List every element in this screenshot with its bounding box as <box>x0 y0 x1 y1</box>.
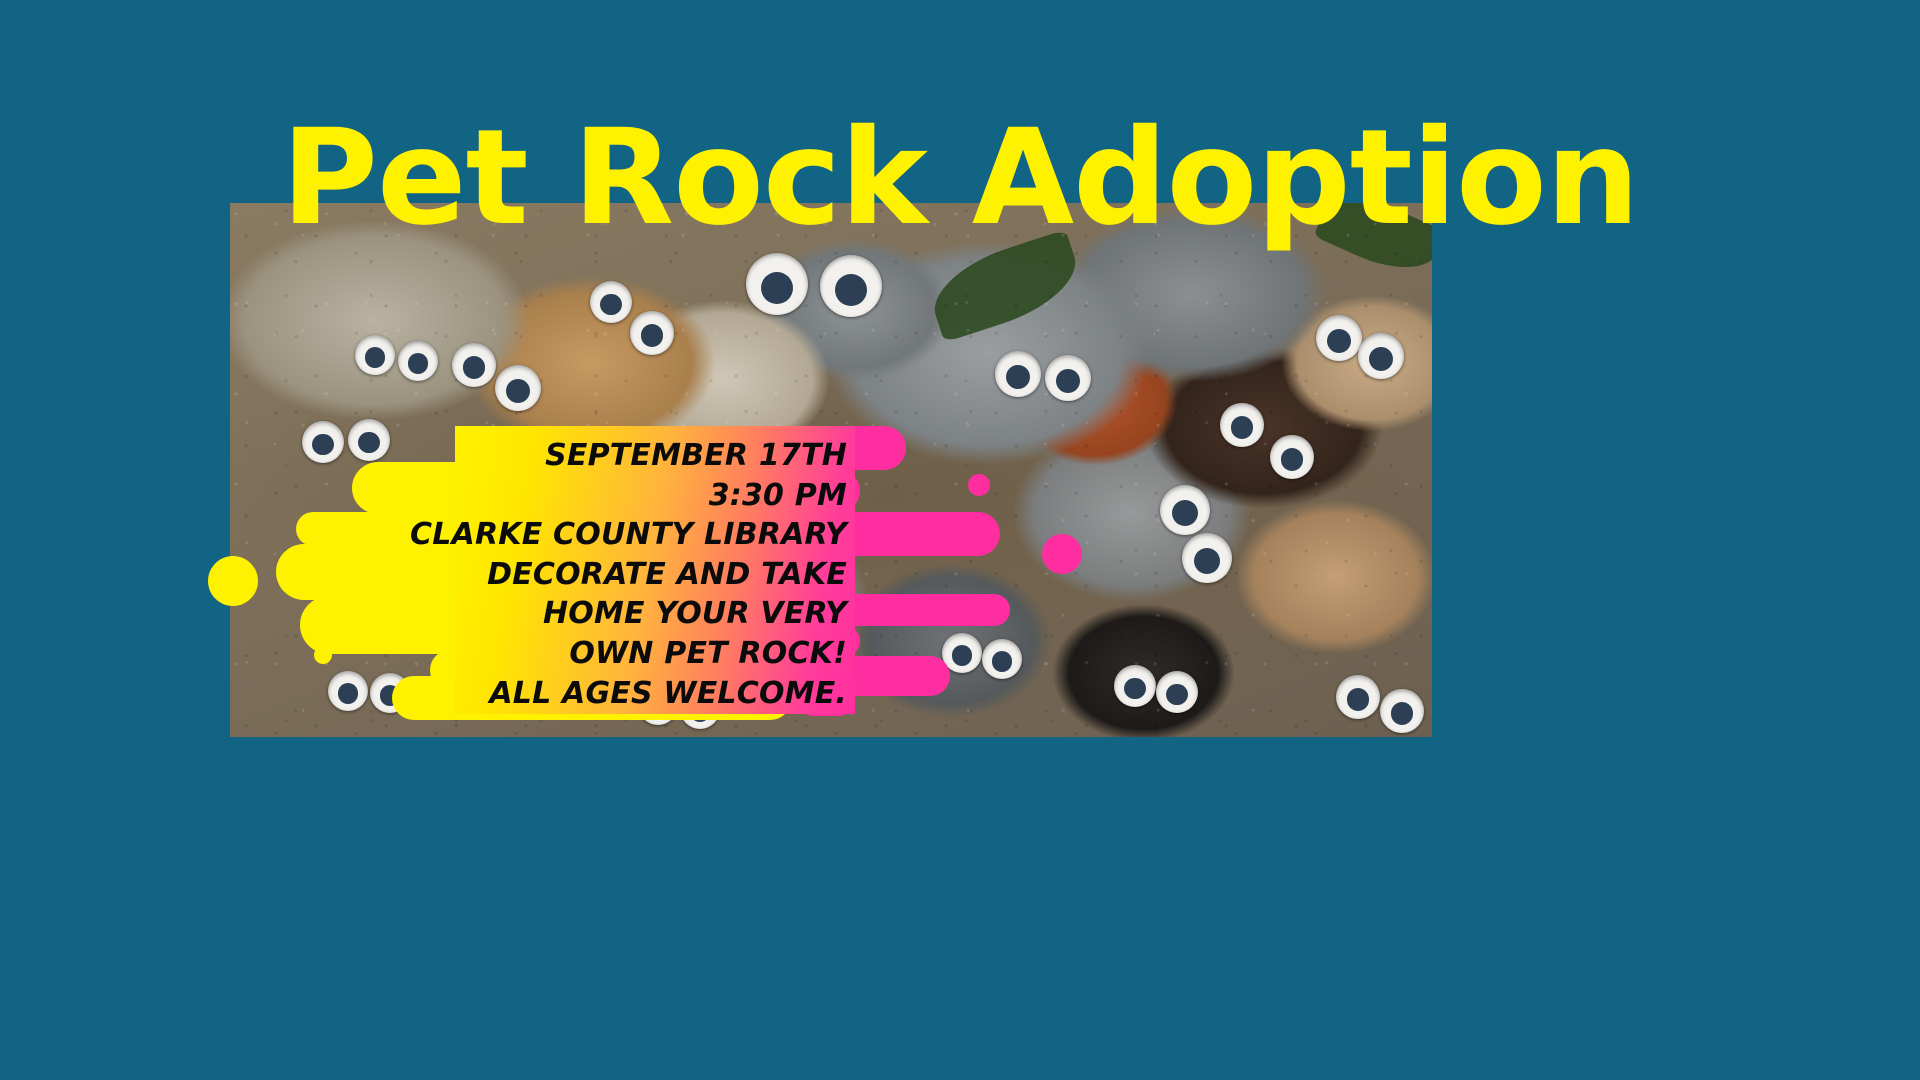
googly-eye <box>398 341 438 381</box>
googly-eye <box>302 421 344 463</box>
googly-eye <box>495 365 541 411</box>
googly-eye <box>995 351 1041 397</box>
detail-line: CLARKE COUNTY LIBRARY <box>410 515 847 555</box>
googly-eye <box>590 281 632 323</box>
googly-eye <box>1270 435 1314 479</box>
googly-eye <box>1045 355 1091 401</box>
googly-eye <box>820 255 882 317</box>
detail-line: DECORATE AND TAKE <box>487 555 847 595</box>
googly-eye <box>746 253 808 315</box>
pink-dot-decor <box>968 474 990 496</box>
event-details-text: SEPTEMBER 17TH 3:30 PM CLARKE COUNTY LIB… <box>455 426 855 714</box>
googly-eye <box>328 671 368 711</box>
googly-eye <box>1220 403 1264 447</box>
googly-eye <box>1182 533 1232 583</box>
detail-line: SEPTEMBER 17TH <box>545 436 847 476</box>
detail-line: 3:30 PM <box>709 476 847 516</box>
googly-eye <box>982 639 1022 679</box>
detail-line: ALL AGES WELCOME. <box>489 674 847 714</box>
detail-line: HOME YOUR VERY <box>543 594 847 634</box>
googly-eye <box>1160 485 1210 535</box>
googly-eye <box>1316 315 1362 361</box>
poster-canvas: Pet Rock Adoption SEPTEMBER 17TH 3:30 PM… <box>0 0 1920 1080</box>
pink-dot-decor <box>1042 534 1082 574</box>
googly-eye <box>1358 333 1404 379</box>
googly-eye <box>1380 689 1424 733</box>
poster-title: Pet Rock Adoption <box>0 112 1920 244</box>
googly-eye <box>452 343 496 387</box>
googly-eye <box>1336 675 1380 719</box>
yellow-dot-decor <box>208 556 258 606</box>
googly-eye <box>1114 665 1156 707</box>
detail-line: OWN PET ROCK! <box>569 634 847 674</box>
yellow-dot-decor <box>314 646 332 664</box>
googly-eye <box>355 335 395 375</box>
googly-eye <box>348 419 390 461</box>
googly-eye <box>630 311 674 355</box>
googly-eye <box>1156 671 1198 713</box>
